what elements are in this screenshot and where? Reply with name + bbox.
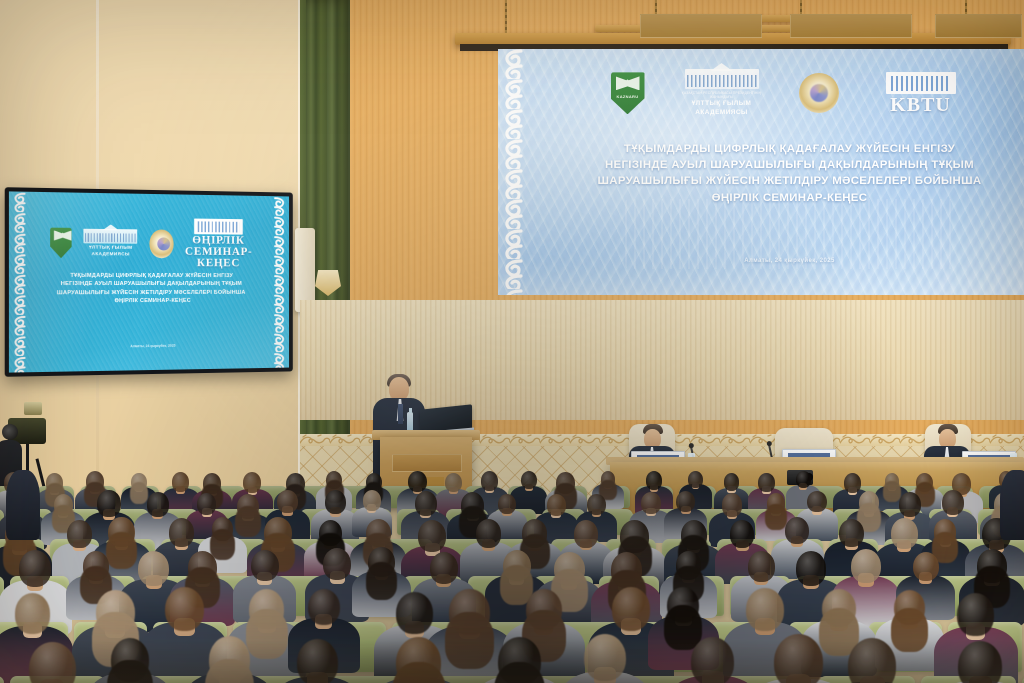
- kaznaru-shield-logo: KAZNARU: [611, 72, 645, 114]
- screen-date-line: Алматы, 24 қыркүйек, 2025: [498, 258, 1024, 264]
- water-bottle: [407, 412, 413, 432]
- left-wall-lcd-monitor: ҰЛТТЫҚ ҒЫЛЫМ АКАДЕМИЯСЫ ӨҢІРЛІК СЕМИНАР-…: [5, 187, 293, 377]
- circular-gold-emblem-logo: [799, 73, 839, 113]
- audience-person-head: [844, 473, 862, 493]
- audience-person-head: [587, 494, 605, 515]
- audience-person-head: [758, 473, 774, 492]
- audience-person-head: [942, 490, 964, 515]
- academy-logo-line2: ҰЛТТЫҚ ҒЫЛЫМ: [679, 100, 765, 108]
- audience-person-head: [676, 491, 695, 513]
- audience-person-head: [172, 472, 189, 492]
- audience-person-head: [641, 492, 660, 514]
- audience-person-head: [169, 518, 194, 546]
- audience-person-head: [547, 494, 566, 516]
- audience-person-head: [243, 472, 261, 493]
- audience-person-head: [445, 473, 462, 492]
- audience-standing-person: [1000, 470, 1024, 540]
- audience-person-head: [19, 550, 51, 587]
- speaker-tie: [398, 404, 403, 424]
- audience-person-head: [851, 549, 881, 583]
- audience-person-long-hair: [235, 506, 261, 537]
- screen-logo-row: KAZNARU ҚАЗАҚСТАН РЕСПУБЛИКАСЫ ПРЕЗИДЕНТ…: [498, 69, 1024, 118]
- audience-person-long-hair: [130, 482, 149, 504]
- kaznaru-logo-caption: KAZNARU: [611, 94, 645, 99]
- academy-building-icon: [685, 69, 759, 89]
- academy-logo-line3: АКАДЕМИЯСЫ: [679, 109, 765, 117]
- camera-lens-icon: [2, 424, 18, 440]
- audience-person-head: [839, 519, 864, 547]
- audience-person-head: [363, 490, 381, 510]
- audience-person-head: [724, 473, 740, 491]
- screen-title-line-4: ӨҢІРЛІК СЕМИНАР-КЕҢЕС: [556, 190, 1023, 206]
- audience-person-head: [521, 471, 537, 490]
- audience-person-long-hair: [106, 532, 138, 569]
- audience-person-head: [746, 588, 783, 631]
- audience-person-long-hair: [366, 562, 398, 600]
- audience-person-head: [899, 492, 921, 517]
- conference-hall-photo: KAZNARU ҚАЗАҚСТАН РЕСПУБЛИКАСЫ ПРЕЗИДЕНТ…: [0, 0, 1024, 683]
- audience-person-head: [646, 471, 663, 490]
- national-academy-of-sciences-logo: ҚАЗАҚСТАН РЕСПУБЛИКАСЫ ПРЕЗИДЕНТІНІҢ ЖАН…: [679, 69, 765, 118]
- audience-person-head: [612, 587, 650, 631]
- audience-person-long-hair: [883, 481, 901, 502]
- audience-standing-person: [6, 470, 40, 540]
- presidium-front-panel: [935, 14, 1022, 38]
- audience-person-head: [913, 552, 939, 582]
- audience-person-head: [408, 471, 427, 492]
- audience-person-head: [807, 491, 826, 513]
- audience-person-head: [197, 493, 216, 514]
- audience-person-head: [251, 550, 279, 582]
- audience-person-head: [722, 493, 743, 516]
- audience-person-head: [796, 471, 811, 489]
- screen-title-line-2: НЕГІЗІНДЕ АУЫЛ ШАРУАШЫЛЫҒЫ ДАҚЫЛДАРЫНЫҢ …: [556, 157, 1023, 173]
- kbtu-logo: KBTU: [873, 72, 969, 115]
- monitor-display: ҰЛТТЫҚ ҒЫЛЫМ АКАДЕМИЯСЫ ӨҢІРЛІК СЕМИНАР-…: [9, 191, 289, 372]
- audience-person-head: [418, 520, 446, 552]
- audience-person-head: [15, 593, 51, 634]
- audience-person-head: [277, 490, 297, 513]
- audience-person-head: [891, 518, 918, 549]
- academy-logo-line1: ҚАЗАҚСТАН РЕСПУБЛИКАСЫ ПРЕЗИДЕНТІНІҢ ЖАН…: [679, 91, 765, 99]
- presidium-front-panel: [640, 14, 762, 38]
- audience-person-head: [97, 490, 120, 517]
- screen-title-line-3: ШАРУАШЫЛЫҒЫ ЖҮЙЕСІН ЖЕТІЛДІРУ МӘСЕЛЕЛЕРІ…: [556, 173, 1023, 189]
- audience-person-head: [748, 551, 775, 582]
- monitor-glare: [9, 191, 289, 372]
- audience-person-head: [325, 490, 346, 514]
- audience-person-head: [165, 587, 204, 631]
- audience-person-head: [308, 589, 340, 626]
- audience-person-head: [796, 551, 826, 585]
- audience-person-long-hair: [210, 529, 236, 560]
- kbtu-building-icon: [886, 72, 956, 94]
- audience-person-head: [430, 552, 458, 584]
- hanging-chain: [505, 0, 507, 36]
- screen-title-line-1: ТҰҚЫМДАРДЫ ЦИФРЛЫҚ ҚАДАҒАЛАУ ЖҮЙЕСІН ЕНГ…: [556, 141, 1023, 157]
- projection-screen: KAZNARU ҚАЗАҚСТАН РЕСПУБЛИКАСЫ ПРЕЗИДЕНТ…: [498, 49, 1024, 295]
- audience-person-head: [67, 520, 91, 548]
- kbtu-logo-caption: KBTU: [873, 95, 969, 115]
- audience-person-head: [730, 520, 754, 548]
- screen-title-block: ТҰҚЫМДАРДЫ ЦИФРЛЫҚ ҚАДАҒАЛАУ ЖҮЙЕСІН ЕНГ…: [556, 141, 1023, 206]
- audience-person-head: [323, 548, 351, 580]
- audience-person-head: [147, 492, 169, 517]
- presidium-front-panel: [790, 14, 912, 38]
- audience-person-head: [415, 491, 437, 516]
- audience-person-head: [138, 551, 169, 586]
- foreground-shadow: [0, 640, 1024, 683]
- audience-person-head: [688, 471, 703, 488]
- camera-light-icon: [24, 402, 42, 415]
- audience-person-head: [957, 593, 994, 635]
- audience-person-head: [396, 592, 432, 634]
- audience-person-head: [574, 520, 598, 548]
- audience-person-head: [481, 471, 499, 491]
- audience-person-head: [498, 494, 516, 514]
- audience-person-head: [785, 517, 809, 544]
- audience-person-long-hair: [765, 504, 787, 530]
- audience-person-head: [476, 519, 501, 548]
